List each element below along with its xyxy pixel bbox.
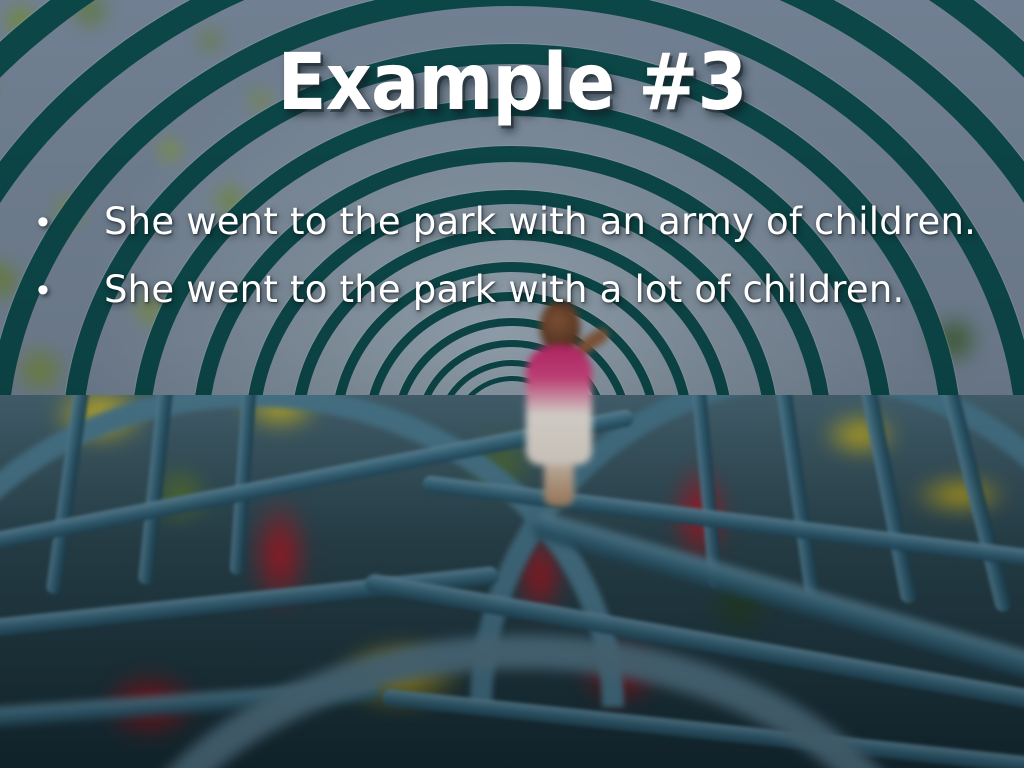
bullet-text: She went to the park with a lot of child…: [104, 264, 904, 316]
bullet-list: • She went to the park with an army of c…: [28, 196, 984, 332]
presentation-slide: Example #3 • She went to the park with a…: [0, 0, 1024, 768]
bullet-marker-icon: •: [28, 264, 58, 316]
slide-content: Example #3 • She went to the park with a…: [0, 0, 1024, 768]
slide-title: Example #3: [41, 44, 983, 122]
bullet-marker-icon: •: [28, 196, 58, 248]
bullet-text: She went to the park with an army of chi…: [104, 196, 976, 248]
list-item: • She went to the park with an army of c…: [28, 196, 984, 264]
list-item: • She went to the park with a lot of chi…: [28, 264, 984, 332]
